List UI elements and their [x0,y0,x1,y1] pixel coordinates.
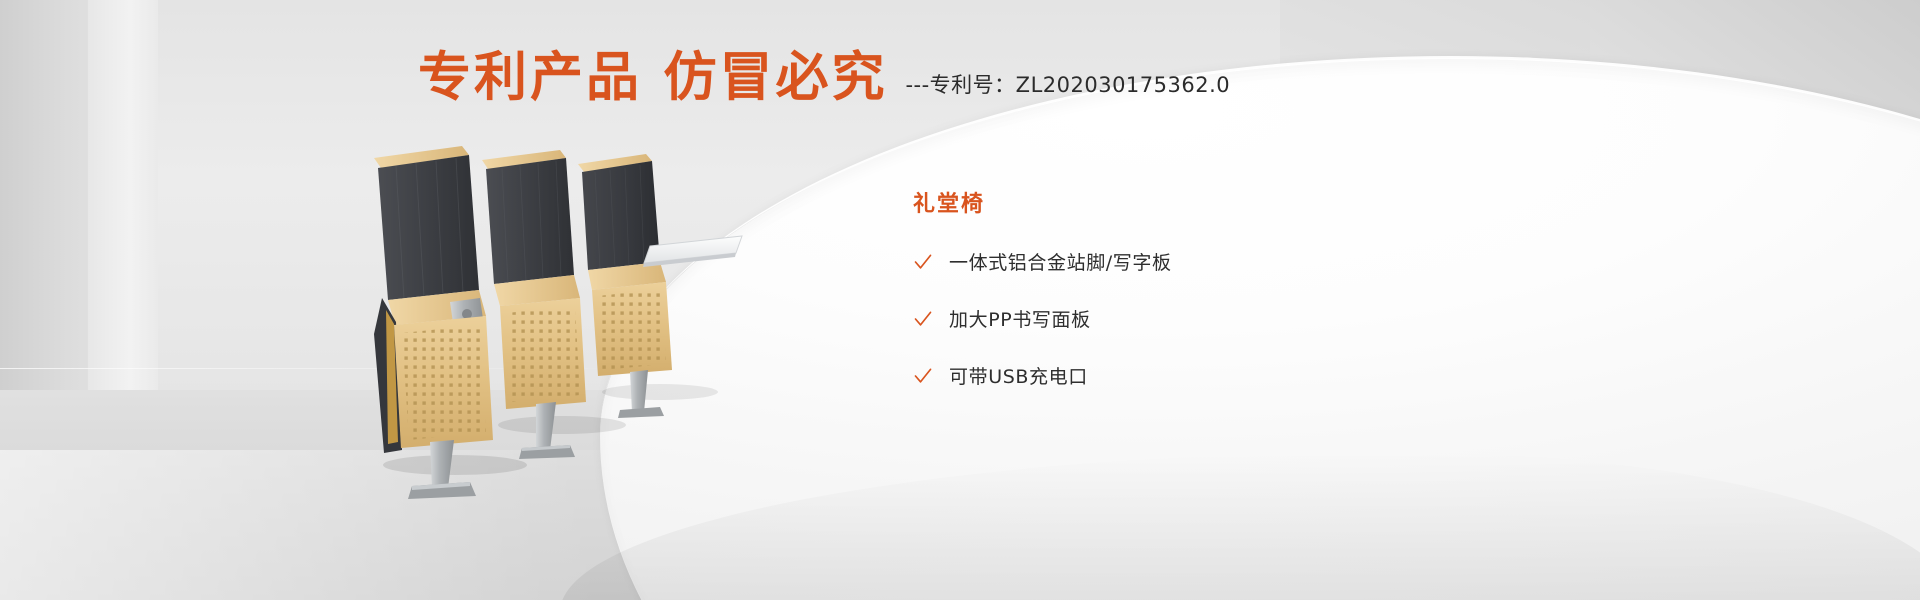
chair-shadow [602,384,718,400]
page-title: 专利产品 仿冒必究 [418,50,887,106]
product-title: 礼堂椅 [913,186,1383,218]
check-icon [913,309,933,329]
headline-row: 专利产品 仿冒必究 ---专利号：ZL202030175362.0 [418,50,1230,106]
promo-banner: 专利产品 仿冒必究 ---专利号：ZL202030175362.0 礼堂椅 一体… [0,0,1920,600]
product-info-panel: 礼堂椅 一体式铝合金站脚/写字板 加大PP书写面板 可带USB充电口 [913,186,1383,419]
feature-label: 一体式铝合金站脚/写字板 [949,248,1172,275]
aluminum-leg [430,440,454,488]
feature-label: 加大PP书写面板 [949,305,1091,332]
check-icon [913,252,933,272]
feature-list: 一体式铝合金站脚/写字板 加大PP书写面板 可带USB充电口 [913,248,1383,389]
auditorium-chairs-image [330,120,800,500]
list-item: 加大PP书写面板 [913,305,1383,332]
chairs-svg [330,120,800,500]
list-item: 可带USB充电口 [913,362,1383,389]
list-item: 一体式铝合金站脚/写字板 [913,248,1383,275]
chair-middle [482,150,586,459]
chair-rear [578,154,672,418]
feature-label: 可带USB充电口 [949,362,1088,389]
patent-number-label: ---专利号：ZL202030175362.0 [905,69,1230,106]
chair-shadow [498,416,626,434]
chair-shadow [383,455,527,475]
chair-front [374,146,493,499]
check-icon [913,366,933,386]
